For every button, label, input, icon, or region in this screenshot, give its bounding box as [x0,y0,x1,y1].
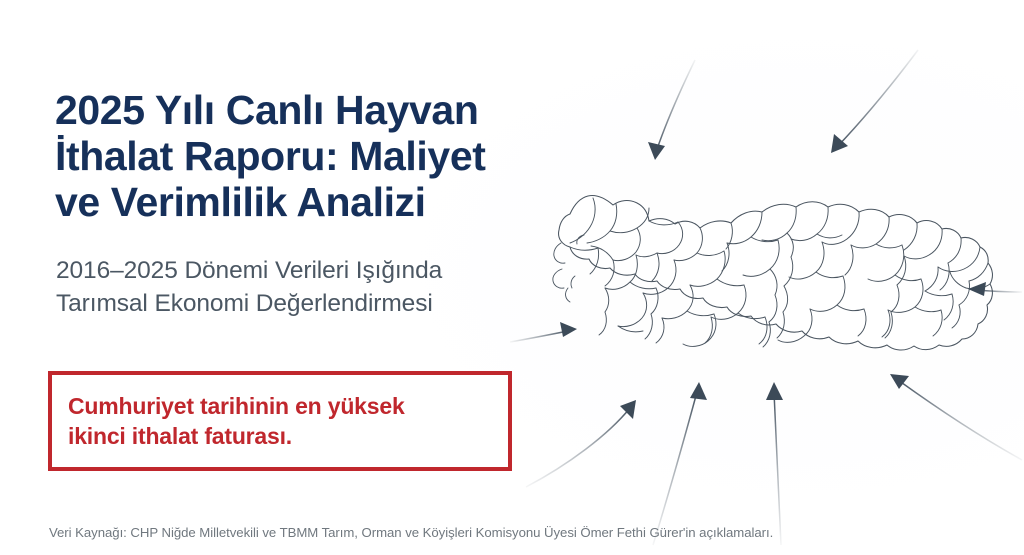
country-outline [559,196,993,350]
map-provinces-group [553,196,993,350]
arrow-into-mediterranean [766,382,783,545]
arrow-into-north-central [831,50,918,153]
data-source-note: Veri Kaynağı: CHP Niğde Milletvekili ve … [49,524,773,541]
arrow-into-south-central [653,382,707,545]
province-borders [570,198,990,347]
coastline-detail [553,235,584,302]
infographic-canvas: 2025 Yılı Canlı Hayvan İthalat Raporu: M… [0,0,1024,555]
arrow-into-southeast [890,374,1022,460]
page-subtitle: 2016–2025 Dönemi Verileri Işığında Tarım… [56,255,526,320]
arrow-into-east [968,282,1022,296]
highlight-callout-box: Cumhuriyet tarihinin en yüksek ikinci it… [48,371,512,471]
page-title: 2025 Yılı Canlı Hayvan İthalat Raporu: M… [55,88,525,226]
turkey-map-illustration [498,0,1024,555]
map-arrows-group [510,50,1022,545]
callout-text: Cumhuriyet tarihinin en yüksek ikinci it… [52,391,405,452]
arrow-into-northwest [648,60,695,160]
text-content-column: 2025 Yılı Canlı Hayvan İthalat Raporu: M… [0,0,540,555]
arrow-into-southwest [526,400,636,487]
